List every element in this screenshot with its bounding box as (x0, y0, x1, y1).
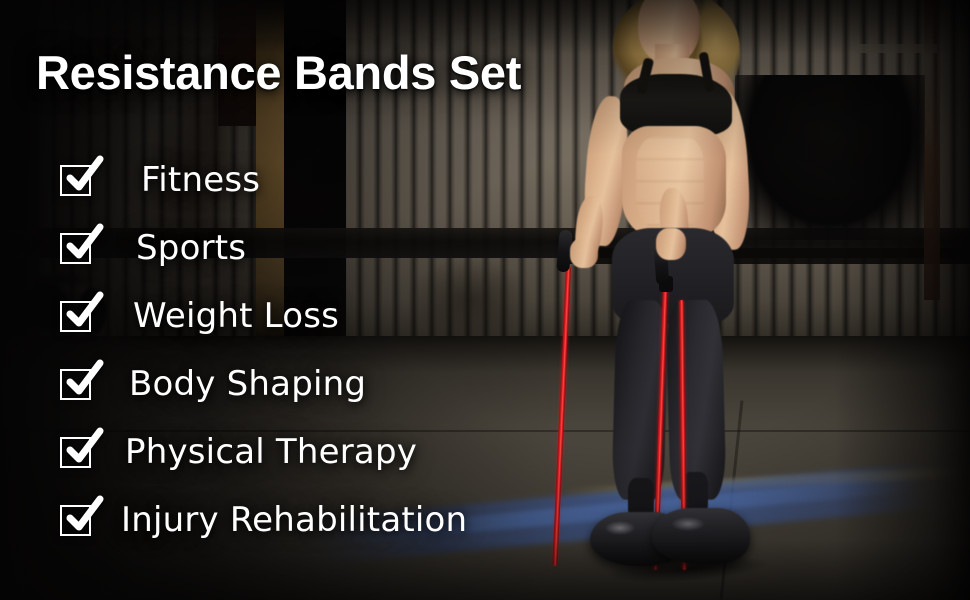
checkbox-checked-icon (60, 165, 91, 196)
text-overlay: Resistance Bands Set FitnessSportsWeight… (0, 0, 970, 600)
checkbox-checked-icon (60, 437, 91, 468)
benefit-label: Fitness (141, 163, 260, 197)
benefits-list: FitnessSportsWeight LossBody ShapingPhys… (0, 146, 600, 554)
benefit-label: Sports (136, 231, 246, 265)
benefit-label: Physical Therapy (125, 435, 417, 469)
benefit-item: Weight Loss (0, 282, 600, 350)
benefit-item: Fitness (0, 146, 600, 214)
checkbox-checked-icon (60, 369, 91, 400)
benefit-item: Body Shaping (0, 350, 600, 418)
checkbox-checked-icon (60, 505, 91, 536)
benefit-label: Body Shaping (129, 367, 366, 401)
product-banner: Resistance Bands Set FitnessSportsWeight… (0, 0, 970, 600)
benefit-label: Weight Loss (133, 299, 339, 333)
checkbox-checked-icon (60, 301, 91, 332)
benefit-item: Physical Therapy (0, 418, 600, 486)
banner-title: Resistance Bands Set (36, 48, 521, 97)
benefit-item: Injury Rehabilitation (0, 486, 600, 554)
benefit-item: Sports (0, 214, 600, 282)
checkbox-checked-icon (60, 233, 91, 264)
benefit-label: Injury Rehabilitation (121, 503, 467, 537)
